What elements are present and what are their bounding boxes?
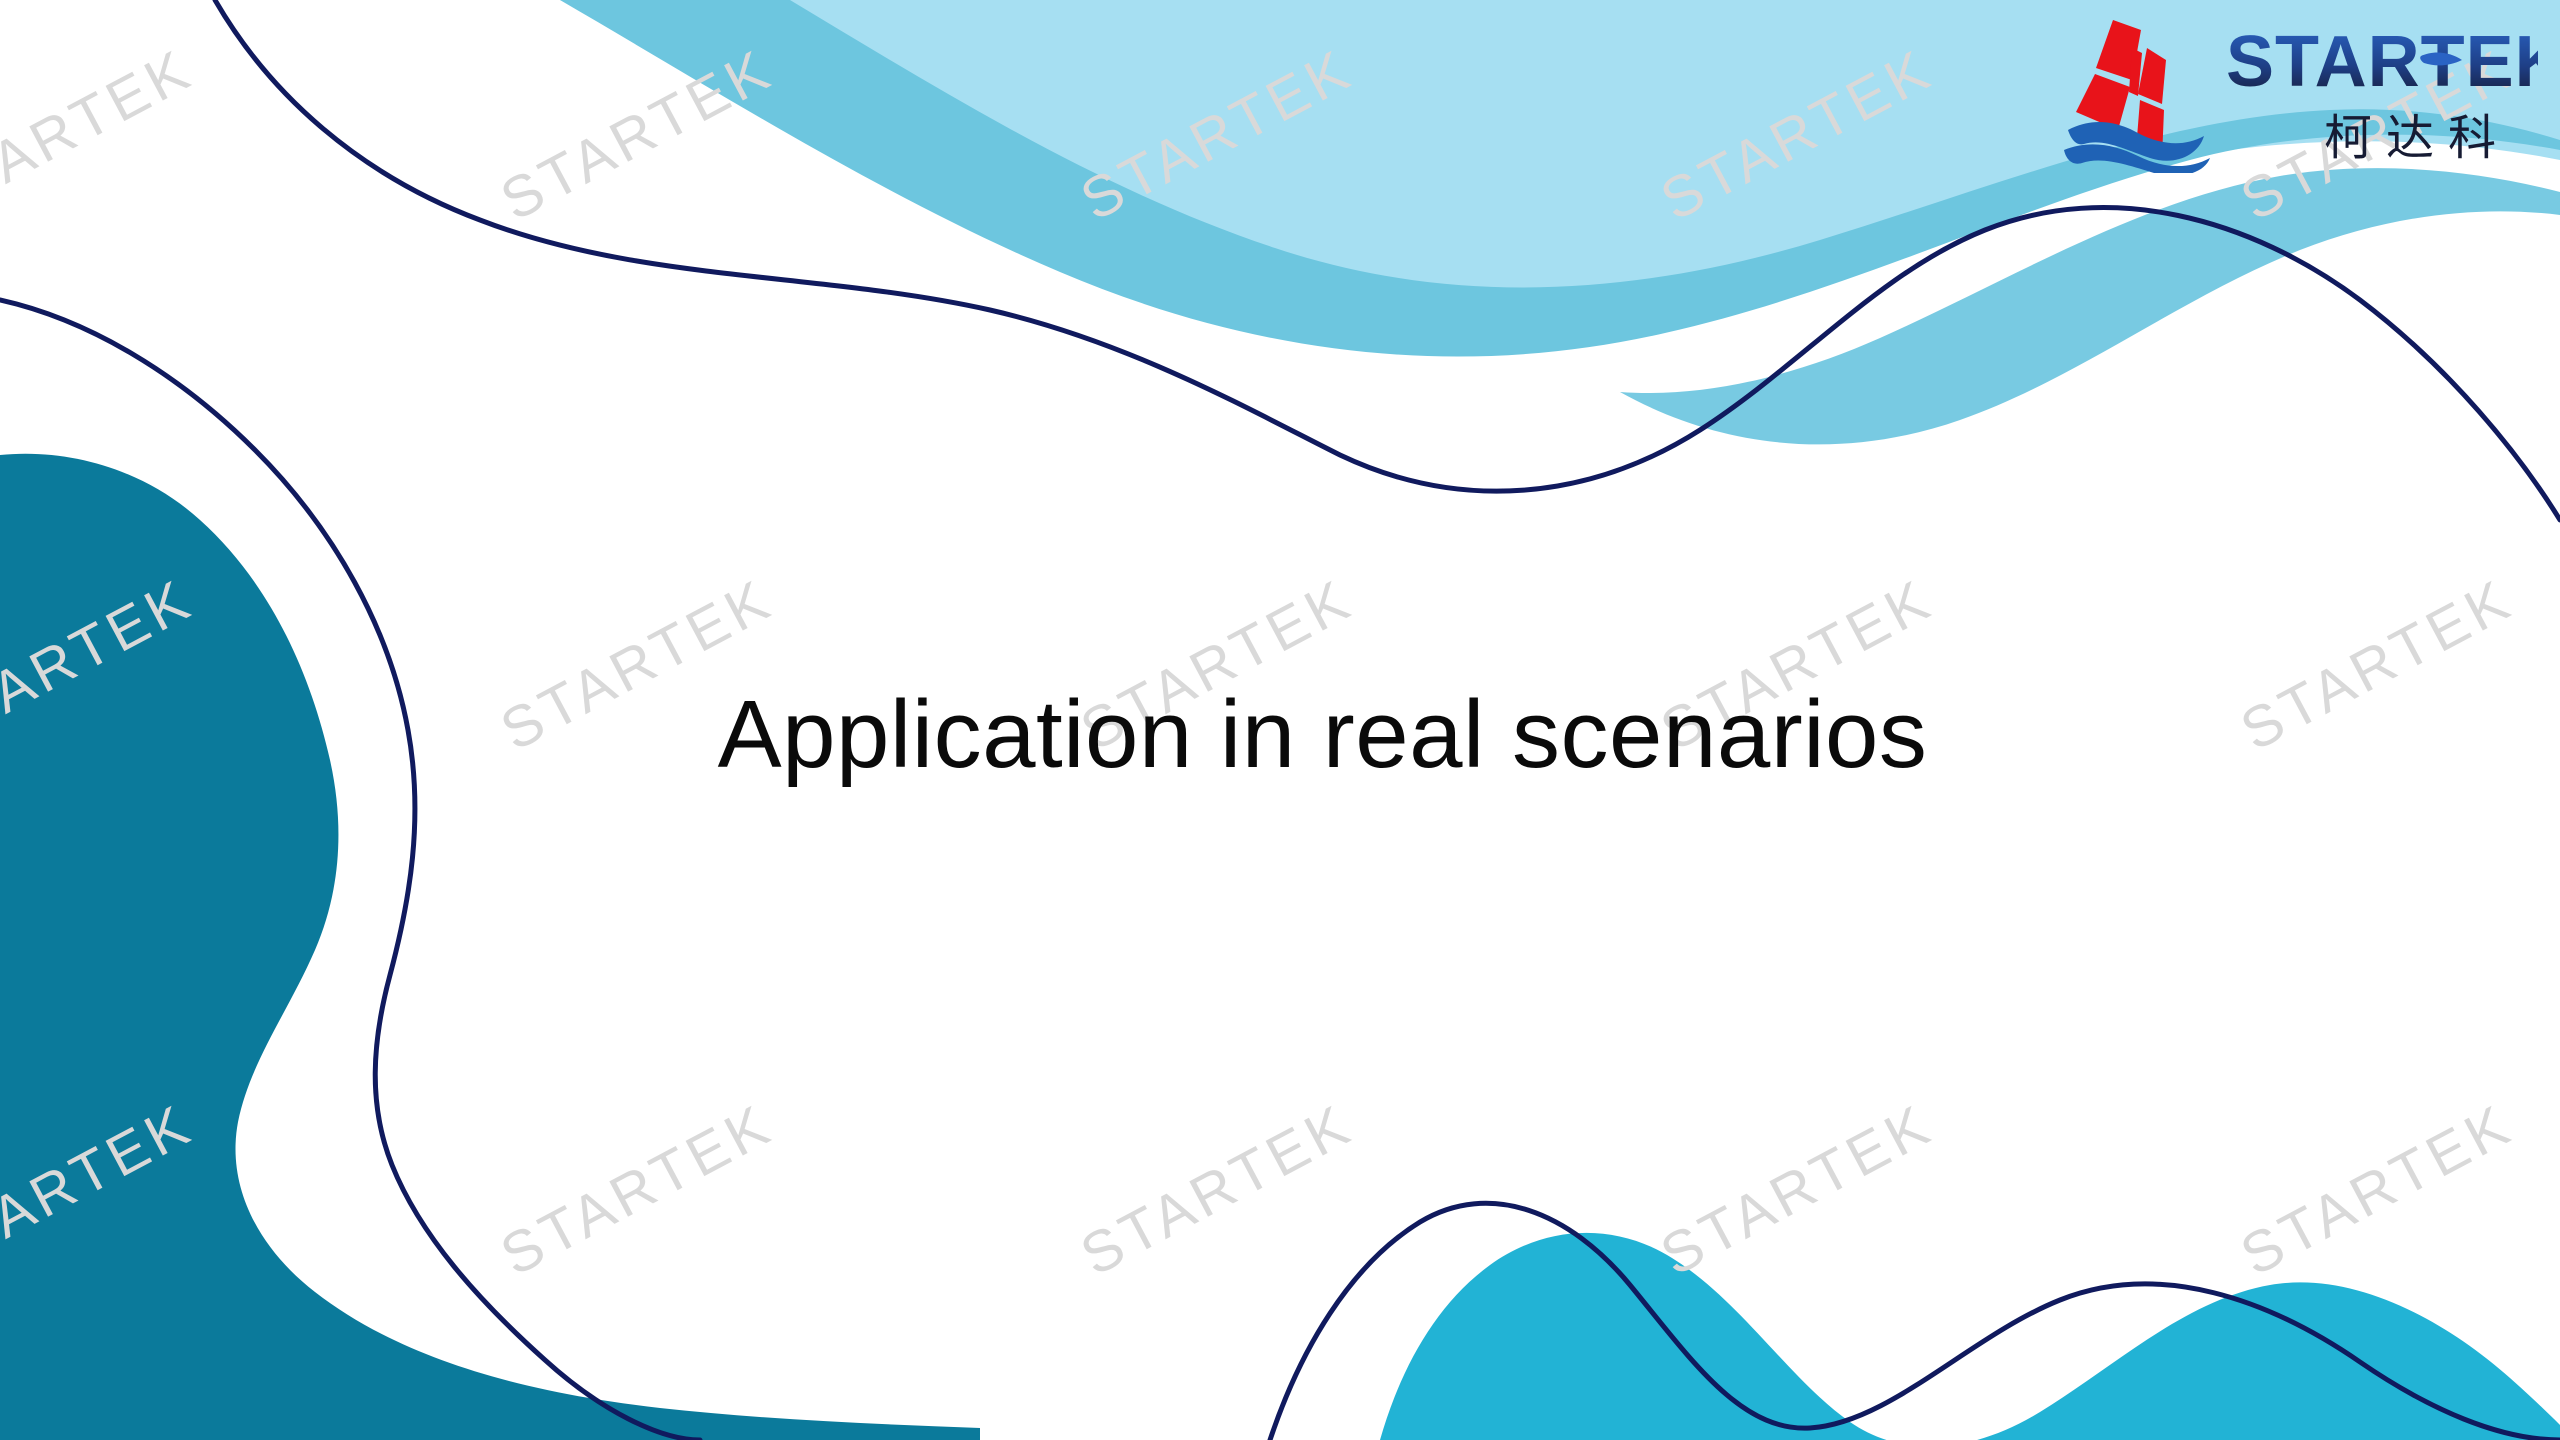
- wordmark-startek: STARTEK: [2226, 22, 2538, 102]
- sail-upper-right: [2138, 48, 2166, 104]
- wordmark-startek-cn: 柯达科: [2324, 112, 2510, 165]
- sailboat-icon: [2064, 20, 2210, 173]
- page-title: Application in real scenarios: [718, 680, 1928, 790]
- title-slide: STARTEK STARTEK STARTEK STARTEK STARTEK …: [0, 0, 2560, 1440]
- title-block: Application in real scenarios: [0, 0, 2560, 1440]
- sail-lower-left: [2076, 74, 2130, 130]
- startek-logo: STARTEK 柯达科: [2058, 8, 2538, 173]
- startek-logo-svg: STARTEK 柯达科: [2058, 8, 2538, 173]
